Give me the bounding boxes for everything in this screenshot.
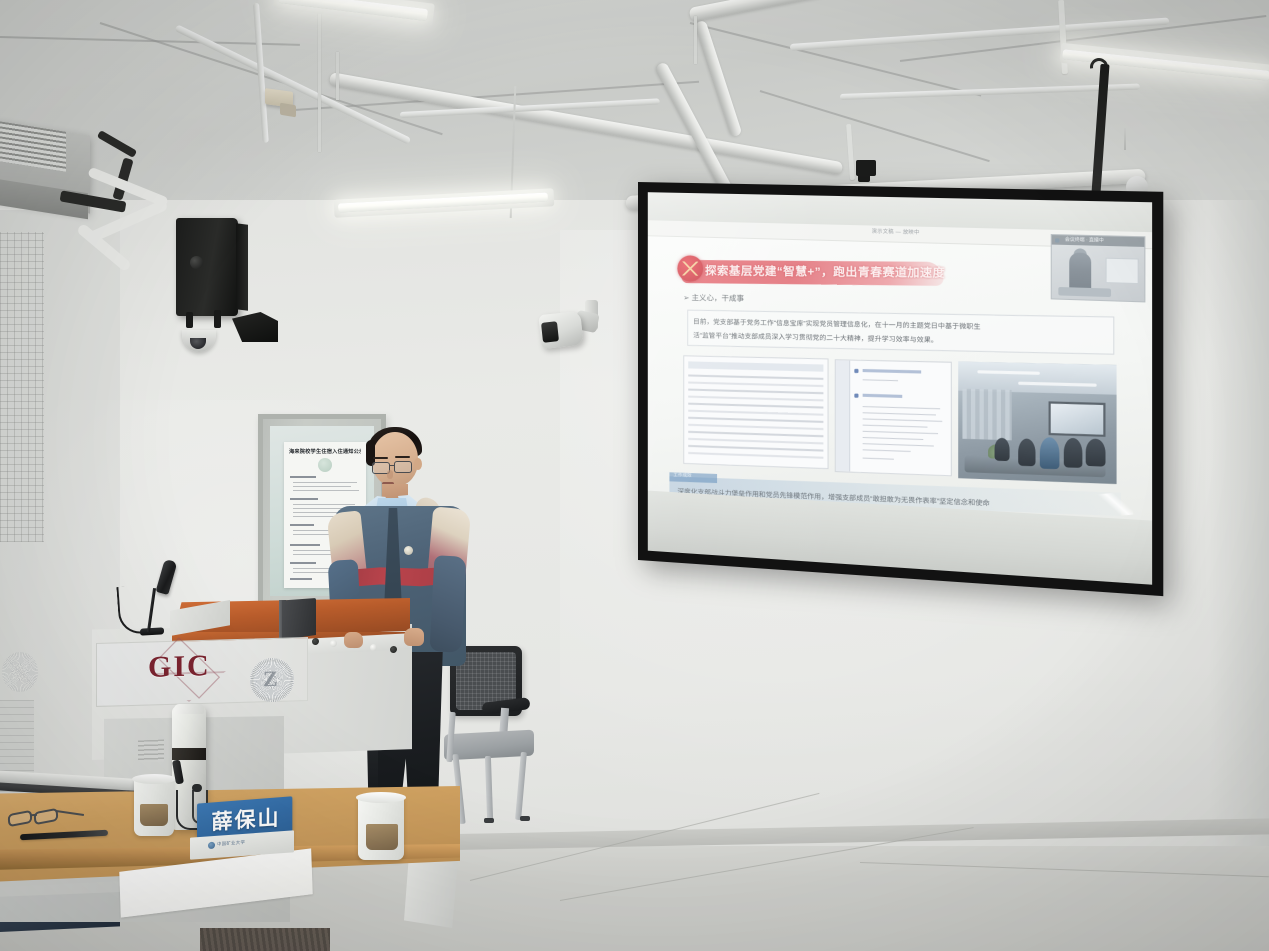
table-row xyxy=(688,452,823,458)
pipe-hanger xyxy=(318,0,321,152)
document-text-line xyxy=(863,449,911,452)
poster-section-heading xyxy=(290,562,316,564)
poster-text-line xyxy=(293,482,357,483)
ceiling-sensor-lens xyxy=(858,174,870,182)
projection-screen[interactable]: 演示文稿 — 放映中 会议终端 · 直播中 探索基层党建“智慧+”，跑出青春赛道… xyxy=(638,182,1163,596)
presenter-head xyxy=(372,432,418,486)
slide-footer-tag-label: 工作成效 xyxy=(673,472,691,479)
table-row xyxy=(688,382,823,387)
poster-title: 海来院校学生住宿入住通知公示 xyxy=(289,448,361,455)
lectern-brand-logo: GIC xyxy=(148,649,211,685)
record-dot-icon xyxy=(1055,238,1059,242)
speaker-bracket xyxy=(214,310,221,328)
university-logo-icon xyxy=(208,841,215,848)
desk-microphone-capsule xyxy=(192,784,202,792)
poster-section-heading xyxy=(290,476,316,478)
poster-section-heading xyxy=(290,578,312,580)
poster-text-line xyxy=(293,504,355,505)
eyeglasses-bridge xyxy=(31,814,37,816)
seated-person xyxy=(995,438,1010,462)
presenter-nose xyxy=(387,470,393,479)
whiteboard-in-video xyxy=(1106,258,1139,284)
speaker-bracket xyxy=(186,312,193,328)
table-row xyxy=(688,410,823,416)
laptop-on-lectern[interactable] xyxy=(282,598,316,640)
microphone-base xyxy=(140,627,164,635)
document-text-line xyxy=(863,418,943,422)
meeting-room-display xyxy=(1049,401,1106,437)
presenter-eyebrow xyxy=(395,456,410,458)
presenter-hand-left xyxy=(344,632,363,648)
table-row xyxy=(688,424,823,430)
video-conference-thumbnail[interactable]: 会议终端 · 直播中 xyxy=(1051,234,1146,302)
seated-person xyxy=(1064,438,1083,468)
table-header-row xyxy=(688,361,823,371)
presenter-ear xyxy=(414,458,422,470)
thermos-band xyxy=(172,748,206,760)
poster-section-heading xyxy=(290,524,314,526)
table-row xyxy=(688,431,823,437)
document-icon xyxy=(854,394,858,398)
poster-text-line xyxy=(293,486,351,487)
thermos-cap xyxy=(174,704,204,714)
party-emblem-icon xyxy=(677,255,703,281)
poster-seal-icon xyxy=(318,458,332,472)
screen-surface: 演示文稿 — 放映中 会议终端 · 直播中 探索基层党建“智慧+”，跑出青春赛道… xyxy=(648,192,1152,585)
perforated-acoustic-panel xyxy=(0,232,44,542)
ceiling-junction-box xyxy=(280,103,296,118)
slide-footer-swoosh xyxy=(1095,491,1133,518)
table-row xyxy=(688,396,823,401)
camera-lens xyxy=(541,321,559,343)
wall-mounted-speaker xyxy=(176,218,238,316)
document-text-line xyxy=(863,431,938,435)
document-text-line xyxy=(863,425,928,428)
pipe-hanger xyxy=(694,16,697,64)
table-row xyxy=(688,417,823,423)
document-title-line xyxy=(863,369,922,373)
nameplate-org-name: 中国矿业大学 xyxy=(217,840,245,848)
seated-person xyxy=(1086,438,1106,466)
table-row xyxy=(688,374,823,379)
poster-section-heading xyxy=(290,544,320,546)
presenter-hand-right xyxy=(404,628,424,646)
wall-right-shading xyxy=(1209,190,1269,850)
eyeglasses-bridge xyxy=(389,465,395,466)
tea-in-cup xyxy=(140,804,168,826)
document-text-line xyxy=(863,406,941,410)
slide-panel-photo xyxy=(958,361,1116,484)
projected-slide: 演示文稿 — 放映中 会议终端 · 直播中 探索基层党建“智慧+”，跑出青春赛道… xyxy=(648,220,1152,520)
document-text-line xyxy=(863,458,894,461)
eyeglasses-lens-right xyxy=(394,461,412,473)
video-thumbnail-caption: 会议终端 · 直播中 xyxy=(1065,236,1104,243)
poster-text-line xyxy=(293,490,359,491)
slide-bullet-heading: ➢ 主义心，干成事 xyxy=(683,292,744,304)
lectern-university-seal xyxy=(2,652,38,692)
tea-in-cup xyxy=(366,824,398,850)
document-text-line xyxy=(863,443,934,447)
table-row xyxy=(688,389,823,394)
camera-lens xyxy=(190,338,206,349)
speaker-side-panel xyxy=(236,223,248,310)
document-icon xyxy=(854,369,858,373)
window-curtain xyxy=(962,389,1011,441)
document-text-line xyxy=(863,412,936,416)
chair-foot xyxy=(520,816,530,821)
slide-app-topbar-label: 演示文稿 — 放映中 xyxy=(872,228,920,236)
jacket-chest-badge xyxy=(404,546,413,555)
seated-person xyxy=(1040,437,1060,469)
presenter-arm-right xyxy=(430,555,467,653)
slide-panel-table xyxy=(683,355,828,469)
cup-rim xyxy=(356,792,406,803)
poster-section-heading xyxy=(290,498,318,500)
document-title-line xyxy=(863,394,903,398)
slide-panel-document xyxy=(835,359,952,476)
slide-title: 探索基层党建“智慧+”，跑出青春赛道加速度 xyxy=(705,262,952,281)
document-text-line xyxy=(863,437,924,440)
speaker-driver xyxy=(190,256,203,269)
hanging-wire xyxy=(1124,128,1126,150)
document-sidebar xyxy=(836,360,850,471)
seated-person xyxy=(1018,438,1035,466)
lectern-vent xyxy=(138,740,164,763)
chair-foot xyxy=(484,818,494,823)
floor-mat xyxy=(200,928,330,951)
table-row xyxy=(688,403,823,408)
document-text-line xyxy=(863,379,898,381)
table-row xyxy=(688,445,823,451)
cup-rim xyxy=(132,774,176,784)
table-in-video xyxy=(1058,287,1111,297)
pipe-hanger xyxy=(336,52,339,100)
table-row xyxy=(688,438,823,444)
presenter-eyebrow xyxy=(373,457,388,459)
classroom-photo: 演示文稿 — 放映中 会议终端 · 直播中 探索基层党建“智慧+”，跑出青春赛道… xyxy=(0,0,1269,951)
